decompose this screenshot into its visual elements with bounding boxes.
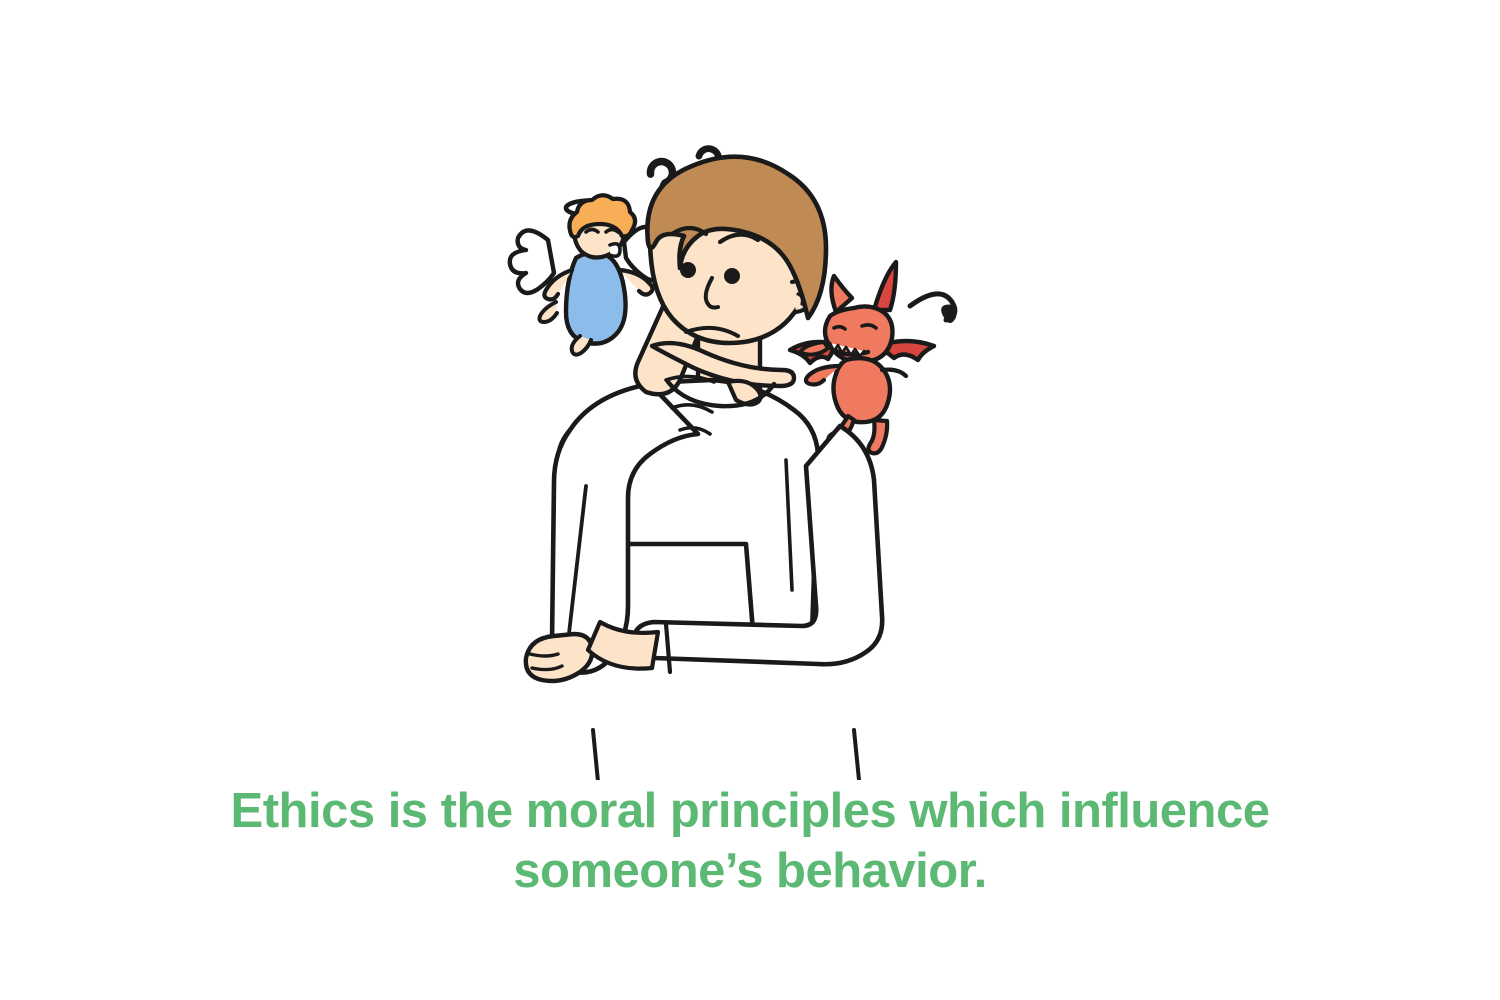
- caption-text: Ethics is the moral principles which inf…: [110, 782, 1390, 902]
- trouser-line-left: [593, 730, 599, 780]
- angel-wing-left: [510, 230, 554, 293]
- eye-left: [680, 262, 696, 278]
- eye-right: [724, 268, 740, 284]
- angel-mouth: [610, 244, 620, 256]
- angel-character: [510, 195, 668, 354]
- devil-body: [833, 358, 890, 422]
- page-root: Ethics is the moral principles which inf…: [0, 0, 1500, 1000]
- angel-robe: [566, 252, 626, 343]
- angel-foot-left: [540, 302, 558, 322]
- devil-horn-right: [874, 262, 896, 310]
- illustration-thinking-man-angel-devil: [480, 130, 1020, 780]
- illustration-svg: [480, 130, 1020, 780]
- resting-finger-1: [530, 654, 558, 656]
- trouser-line-right: [854, 730, 860, 780]
- devil-leg-right: [868, 420, 887, 453]
